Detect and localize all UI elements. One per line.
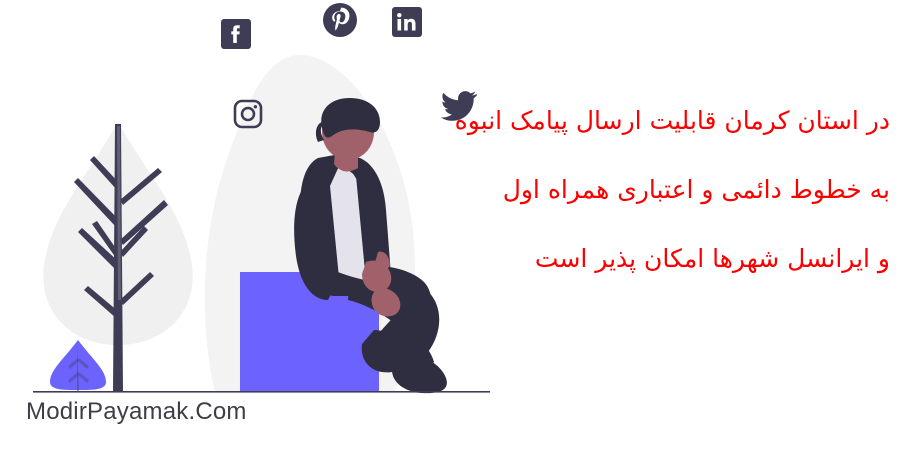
facebook-icon[interactable] — [221, 19, 251, 49]
poster-canvas: در استان کرمان قابلیت ارسال پیامک انبوه … — [0, 0, 908, 450]
illustration — [0, 0, 500, 450]
pinterest-icon[interactable] — [323, 3, 357, 37]
instagram-icon[interactable] — [233, 99, 263, 129]
marketing-copy: در استان کرمان قابلیت ارسال پیامک انبوه … — [498, 86, 890, 293]
copy-line-2: به خطوط دائمی و اعتباری همراه اول — [498, 155, 890, 224]
copy-line-3: و ایرانسل شهرها امکان پذیر است — [498, 224, 890, 293]
brand-wordmark: ModirPayamak.Com — [26, 398, 247, 426]
ground-line — [33, 391, 490, 393]
small-purple-leaf — [50, 340, 106, 392]
copy-line-1: در استان کرمان قابلیت ارسال پیامک انبوه — [498, 86, 890, 155]
linkedin-icon[interactable] — [392, 7, 422, 37]
